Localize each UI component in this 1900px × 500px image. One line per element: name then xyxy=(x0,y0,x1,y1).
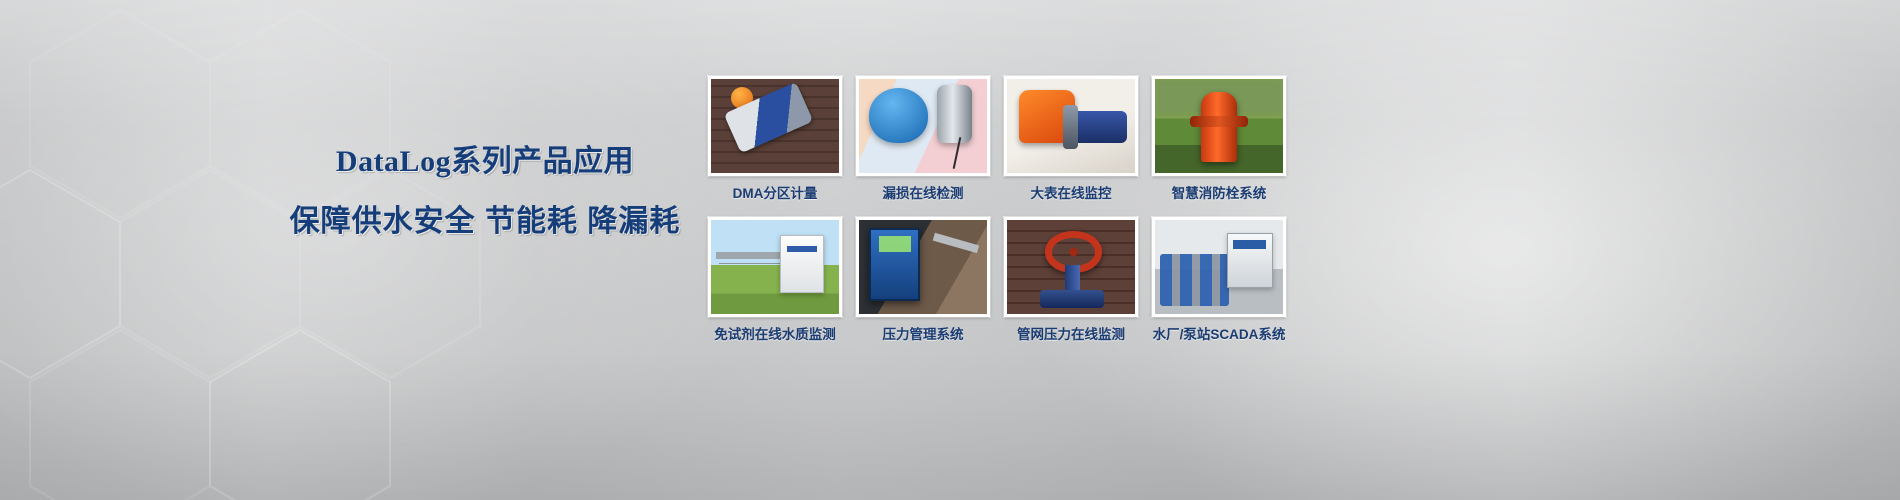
pipe-pressure-valve-icon xyxy=(1007,220,1135,314)
product-cell-water-quality[interactable]: 免试剂在线水质监测 xyxy=(708,217,842,344)
water-quality-station-icon xyxy=(711,220,839,314)
product-application-grid: DMA分区计量 漏损在线检测 大表在线监控 xyxy=(708,76,1286,358)
product-thumbnail[interactable] xyxy=(1152,76,1286,176)
large-water-meter-icon xyxy=(1007,79,1135,173)
product-caption: 压力管理系统 xyxy=(883,326,964,344)
product-cell-scada[interactable]: 水厂/泵站SCADA系统 xyxy=(1152,217,1286,344)
product-grid-row-1: DMA分区计量 漏损在线检测 大表在线监控 xyxy=(708,76,1286,203)
product-grid-row-2: 免试剂在线水质监测 压力管理系统 管网压力在线监测 xyxy=(708,217,1286,344)
product-cell-pressure-management[interactable]: 压力管理系统 xyxy=(856,217,990,344)
pressure-management-icon xyxy=(859,220,987,314)
product-thumbnail[interactable] xyxy=(708,217,842,317)
product-cell-large-meter[interactable]: 大表在线监控 xyxy=(1004,76,1138,203)
headline-line-primary: DataLog系列产品应用 xyxy=(270,143,700,181)
product-caption: 智慧消防栓系统 xyxy=(1172,185,1267,203)
product-thumbnail[interactable] xyxy=(1004,76,1138,176)
product-thumbnail[interactable] xyxy=(1004,217,1138,317)
product-cell-dma[interactable]: DMA分区计量 xyxy=(708,76,842,203)
product-caption: 免试剂在线水质监测 xyxy=(714,326,836,344)
product-caption: 漏损在线检测 xyxy=(883,185,964,203)
product-caption: 管网压力在线监测 xyxy=(1017,326,1125,344)
promo-banner: DataLog系列产品应用 保障供水安全 节能耗 降漏耗 DMA分区计量 xyxy=(0,0,1900,500)
product-caption: DMA分区计量 xyxy=(733,185,818,203)
dma-flow-meter-icon xyxy=(711,79,839,173)
scada-pump-station-icon xyxy=(1155,220,1283,314)
headline-line-secondary: 保障供水安全 节能耗 降漏耗 xyxy=(270,203,700,241)
product-caption: 大表在线监控 xyxy=(1031,185,1112,203)
product-thumbnail[interactable] xyxy=(708,76,842,176)
fire-hydrant-icon xyxy=(1155,79,1283,173)
product-caption: 水厂/泵站SCADA系统 xyxy=(1153,326,1286,344)
product-thumbnail[interactable] xyxy=(1152,217,1286,317)
product-cell-fire-hydrant[interactable]: 智慧消防栓系统 xyxy=(1152,76,1286,203)
banner-headline: DataLog系列产品应用 保障供水安全 节能耗 降漏耗 xyxy=(270,143,700,241)
product-cell-leak-detection[interactable]: 漏损在线检测 xyxy=(856,76,990,203)
product-cell-pipe-pressure[interactable]: 管网压力在线监测 xyxy=(1004,217,1138,344)
product-thumbnail[interactable] xyxy=(856,76,990,176)
product-thumbnail[interactable] xyxy=(856,217,990,317)
leak-logger-icon xyxy=(859,79,987,173)
hexagon-pattern-icon xyxy=(0,0,760,500)
